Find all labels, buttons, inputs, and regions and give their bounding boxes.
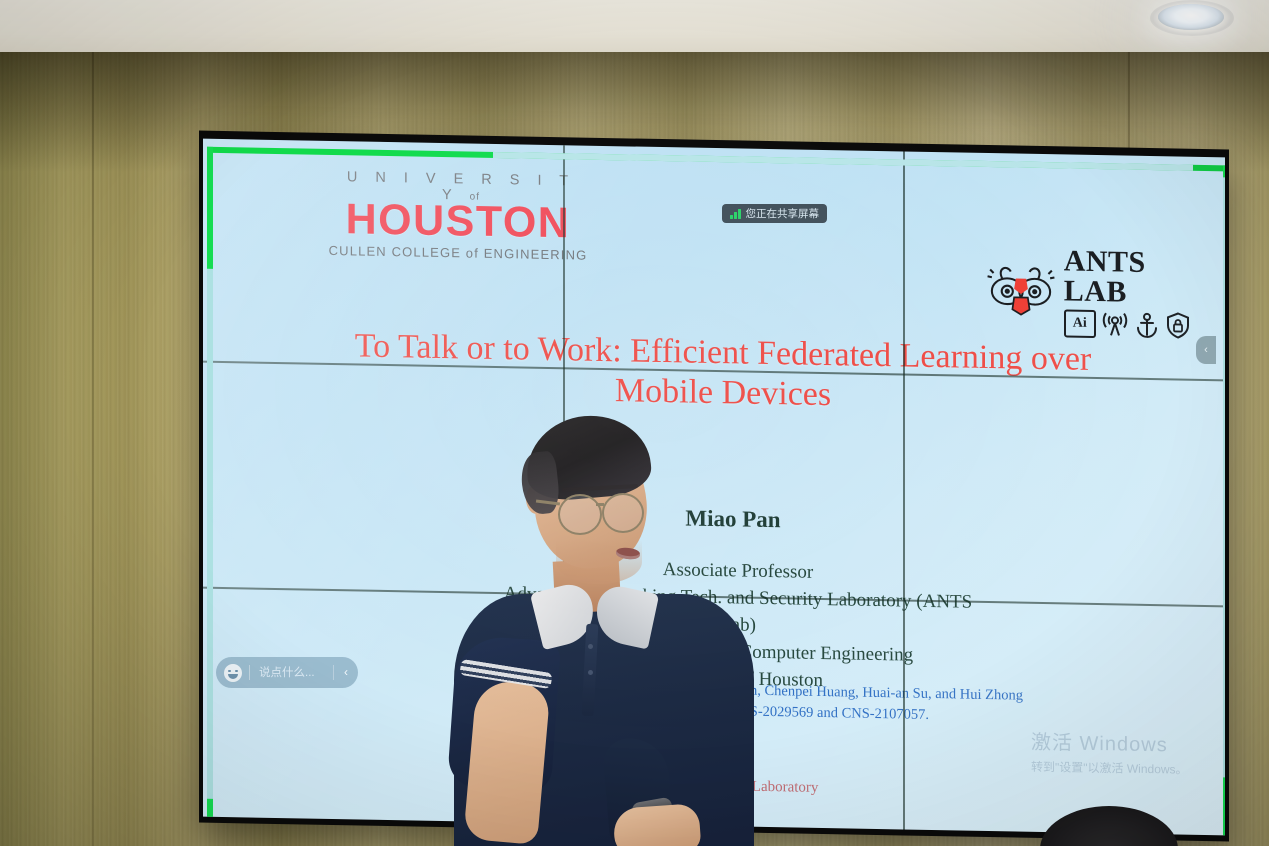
uh-logo-houston-word: HOUSTON [328,199,588,245]
glasses-bridge [596,503,604,506]
shirt-button [588,644,593,649]
side-panel-toggle[interactable]: ‹ [1196,336,1216,364]
ants-lab-icon-row: Ai [1064,309,1191,339]
chevron-left-icon: ‹ [1204,344,1208,356]
comment-input[interactable] [257,666,333,680]
smiley-icon[interactable] [224,664,242,682]
screen-sharing-status-label: 您正在共享屏幕 [746,206,820,221]
screen-sharing-status-badge[interactable]: 您正在共享屏幕 [722,204,827,223]
glasses-lens-right [602,493,644,533]
ants-lab-text-block: ANTS LAB Ai [1064,246,1195,339]
shirt-button [588,670,593,675]
ceiling-downlight-icon [1158,4,1224,30]
wireless-tower-icon [1101,311,1129,338]
comment-bar[interactable]: ‹ [216,657,358,688]
shield-lock-icon [1165,311,1191,339]
windows-activation-watermark: 激活 Windows 转到"设置"以激活 Windows。 [1031,726,1188,778]
ant-head-icon [985,258,1059,323]
university-of-houston-logo: U N I V E R S I T Y of HOUSTON CULLEN CO… [328,169,588,263]
chevron-left-icon[interactable]: ‹ [333,665,358,680]
slide-title: To Talk or to Work: Efficient Federated … [323,326,1123,421]
presenter-person [438,408,768,846]
screenshot-root: U N I V E R S I T Y of HOUSTON CULLEN CO… [0,0,1269,846]
bezel-line-vertical [903,151,905,829]
windows-watermark-subtitle: 转到"设置"以激活 Windows。 [1031,758,1188,778]
glasses-lens-left [558,494,602,535]
ai-box-icon: Ai [1064,309,1096,338]
ants-lab-logo: ANTS LAB Ai [985,253,1195,331]
presenter-hair-side [519,450,561,515]
presenter-arm [463,679,551,845]
windows-watermark-title: 激活 Windows [1031,726,1188,758]
presenter-jaw-shadow [556,540,642,584]
comment-bar-divider [249,665,250,680]
signal-bars-icon [730,209,741,219]
ants-lab-name: ANTS LAB [1064,246,1195,308]
anchor-icon [1134,311,1160,337]
